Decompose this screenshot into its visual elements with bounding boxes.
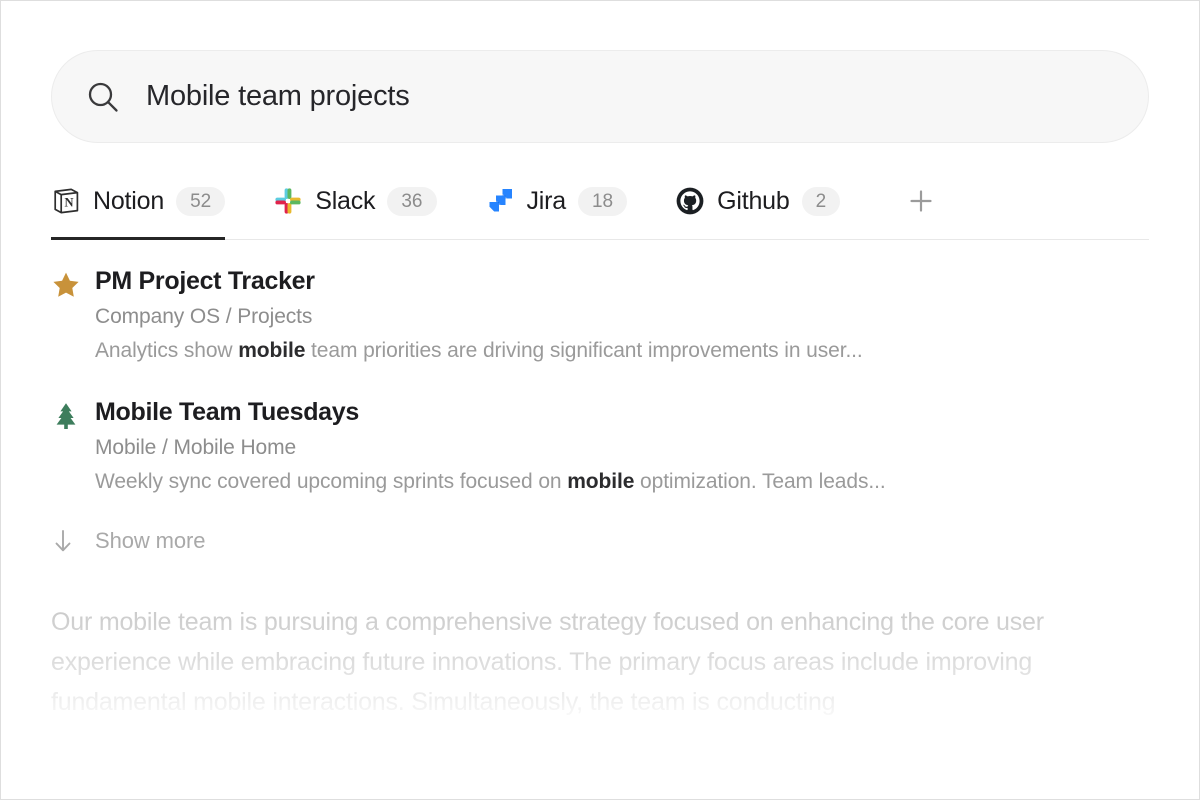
svg-text:N: N [64, 195, 73, 209]
result-snippet: Analytics show mobile team priorities ar… [95, 339, 1149, 363]
slack-icon [273, 186, 303, 216]
snippet-after: optimization. Team leads... [634, 470, 885, 493]
arrow-down-icon [51, 528, 95, 554]
search-bar[interactable] [51, 50, 1149, 143]
result-item-mobile-team-tuesdays[interactable]: Mobile Team Tuesdays Mobile / Mobile Hom… [51, 397, 1149, 494]
search-app-window: N Notion 52 [0, 0, 1200, 800]
snippet-highlight: mobile [567, 470, 634, 493]
snippet-before: Analytics show [95, 339, 238, 362]
tab-label: Jira [527, 187, 566, 216]
tab-count-badge: 52 [176, 187, 225, 216]
show-more-label: Show more [95, 528, 205, 554]
tab-count-badge: 36 [387, 187, 436, 216]
tab-github[interactable]: Github 2 [675, 176, 840, 240]
snippet-highlight: mobile [238, 339, 305, 362]
star-icon [51, 270, 95, 300]
evergreen-tree-icon [51, 401, 95, 431]
jira-icon [485, 186, 515, 216]
snippet-before: Weekly sync covered upcoming sprints foc… [95, 470, 567, 493]
tab-count-badge: 18 [578, 187, 627, 216]
tab-label: Notion [93, 187, 164, 216]
show-more-button[interactable]: Show more [51, 528, 205, 554]
search-input[interactable] [146, 80, 1114, 113]
snippet-after: team priorities are driving significant … [305, 339, 862, 362]
summary-paragraph: Our mobile team is pursuing a comprehens… [51, 602, 1149, 722]
source-tabs: N Notion 52 [51, 176, 1149, 240]
result-item-pm-project-tracker[interactable]: PM Project Tracker Company OS / Projects… [51, 266, 1149, 363]
tab-label: Slack [315, 187, 375, 216]
github-icon [675, 186, 705, 216]
result-title: PM Project Tracker [95, 266, 1149, 296]
tab-label: Github [717, 187, 789, 216]
tab-notion[interactable]: N Notion 52 [51, 176, 225, 240]
search-icon [86, 80, 120, 114]
tab-slack[interactable]: Slack 36 [273, 176, 436, 240]
result-breadcrumb: Mobile / Mobile Home [95, 436, 1149, 460]
search-results-list: PM Project Tracker Company OS / Projects… [51, 266, 1149, 554]
notion-icon: N [51, 186, 81, 216]
add-source-button[interactable] [906, 176, 936, 240]
tab-count-badge: 2 [802, 187, 841, 216]
result-breadcrumb: Company OS / Projects [95, 305, 1149, 329]
result-body: Mobile Team Tuesdays Mobile / Mobile Hom… [95, 397, 1149, 494]
tab-jira[interactable]: Jira 18 [485, 176, 628, 240]
result-body: PM Project Tracker Company OS / Projects… [95, 266, 1149, 363]
plus-icon [906, 186, 936, 216]
result-title: Mobile Team Tuesdays [95, 397, 1149, 427]
result-snippet: Weekly sync covered upcoming sprints foc… [95, 470, 1149, 494]
